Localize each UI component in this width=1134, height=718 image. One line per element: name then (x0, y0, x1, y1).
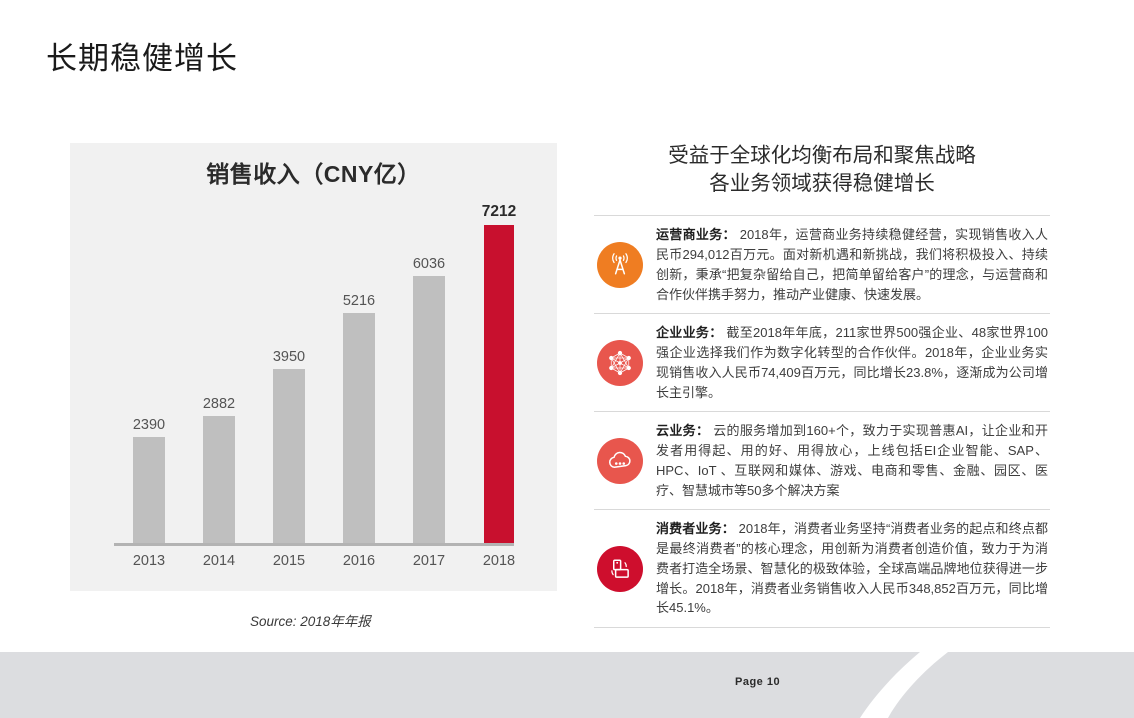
bar-value-2013: 2390 (133, 417, 165, 433)
business-item-icon-wrap (594, 242, 656, 288)
bar-rect-2015 (273, 369, 305, 543)
business-item-label: 消费者业务： (656, 521, 735, 536)
bar-rect-2013 (133, 437, 165, 543)
bar-rect-2017 (413, 276, 445, 543)
chart-bar-2015: 3950 (254, 203, 324, 543)
business-item-body: 云的服务增加到160+个，致力于实现普惠AI，让企业和开发者用得起、用的好、用得… (656, 423, 1048, 497)
antenna-tower-icon (605, 250, 635, 280)
chart-bar-2013: 2390 (114, 203, 184, 543)
x-axis-label-2017: 2017 (394, 553, 464, 569)
cloud-icon-circle (597, 438, 643, 484)
network-nodes-icon-circle (597, 340, 643, 386)
heading-line-2: 各业务领域获得稳健增长 (594, 170, 1050, 198)
business-item-text: 消费者业务： 2018年，消费者业务坚持“消费者业务的起点和终点都是最终消费者”… (656, 519, 1050, 618)
business-item-label: 云业务： (656, 423, 709, 438)
business-item-1[interactable]: 企业业务： 截至2018年年底，211家世界500强企业、48家世界100强企业… (594, 313, 1050, 411)
chart-plot-area: 239028823950521660367212 (102, 203, 525, 543)
business-item-icon-wrap (594, 546, 656, 592)
business-item-0[interactable]: 运营商业务： 2018年，运营商业务持续稳健经营，实现销售收入人民币294,01… (594, 215, 1050, 313)
chart-bar-2016: 5216 (324, 203, 394, 543)
business-summary-column: 受益于全球化均衡布局和聚焦战略 各业务领域获得稳健增长 运营商业务： 2018年… (594, 142, 1050, 628)
chart-bar-2017: 6036 (394, 203, 464, 543)
business-items-list: 运营商业务： 2018年，运营商业务持续稳健经营，实现销售收入人民币294,01… (594, 215, 1050, 628)
business-item-text: 云业务： 云的服务增加到160+个，致力于实现普惠AI，让企业和开发者用得起、用… (656, 421, 1050, 500)
business-item-icon-wrap (594, 438, 656, 484)
business-summary-heading: 受益于全球化均衡布局和聚焦战略 各业务领域获得稳健增长 (594, 142, 1050, 197)
x-axis-label-2014: 2014 (184, 553, 254, 569)
bar-value-2016: 5216 (343, 293, 375, 309)
network-nodes-icon (605, 348, 635, 378)
chart-bar-2018: 7212 (464, 203, 534, 543)
bar-rect-2016 (343, 313, 375, 543)
bar-rect-2018 (484, 225, 514, 543)
bar-rect-2014 (203, 416, 235, 543)
chart-source-note: Source: 2018年年报 (250, 610, 371, 630)
business-item-label: 运营商业务： (656, 227, 736, 242)
business-item-3[interactable]: 消费者业务： 2018年，消费者业务坚持“消费者业务的起点和终点都是最终消费者”… (594, 509, 1050, 628)
chart-bar-2014: 2882 (184, 203, 254, 543)
x-axis-label-2018: 2018 (464, 553, 534, 569)
bar-value-2018: 7212 (482, 203, 516, 221)
business-item-icon-wrap (594, 340, 656, 386)
page-number: Page 10 (735, 676, 780, 688)
x-axis-label-2015: 2015 (254, 553, 324, 569)
bar-value-2014: 2882 (203, 396, 235, 412)
consumer-device-icon-circle (597, 546, 643, 592)
consumer-device-icon (605, 554, 635, 584)
antenna-tower-icon-circle (597, 242, 643, 288)
footer-bar (0, 652, 1134, 718)
bar-value-2015: 3950 (273, 349, 305, 365)
chart-x-axis-line (114, 543, 514, 546)
business-item-2[interactable]: 云业务： 云的服务增加到160+个，致力于实现普惠AI，让企业和开发者用得起、用… (594, 411, 1050, 509)
footer-swoosh-decoration (830, 652, 1134, 718)
business-item-label: 企业业务： (656, 325, 723, 340)
page-title: 长期稳健增长 (46, 40, 238, 77)
chart-title: 销售收入（CNY亿） (70, 155, 557, 189)
heading-line-1: 受益于全球化均衡布局和聚焦战略 (594, 142, 1050, 170)
business-item-text: 企业业务： 截至2018年年底，211家世界500强企业、48家世界100强企业… (656, 323, 1050, 402)
bar-value-2017: 6036 (413, 256, 445, 272)
business-item-text: 运营商业务： 2018年，运营商业务持续稳健经营，实现销售收入人民币294,01… (656, 225, 1050, 304)
x-axis-label-2016: 2016 (324, 553, 394, 569)
x-axis-label-2013: 2013 (114, 553, 184, 569)
cloud-icon (605, 446, 635, 476)
sales-revenue-chart-panel: 销售收入（CNY亿） 239028823950521660367212 2013… (70, 143, 557, 591)
